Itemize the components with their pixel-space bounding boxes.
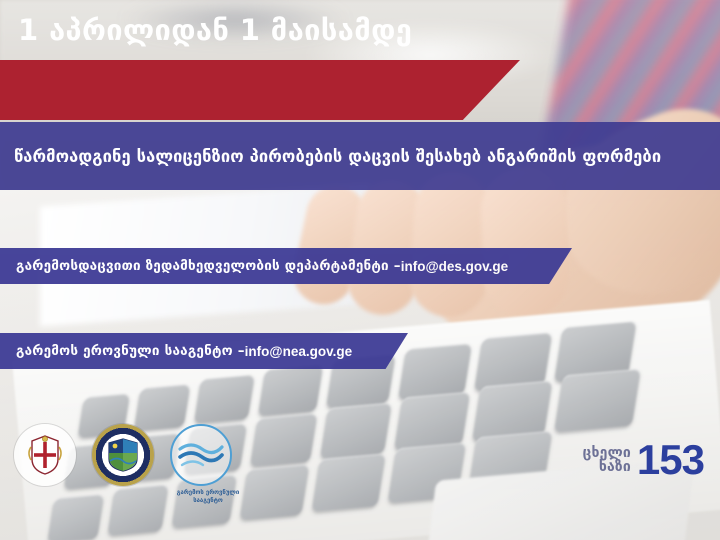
coat-of-arms-icon bbox=[14, 424, 76, 486]
contact-email-des[interactable]: info@des.gov.ge bbox=[401, 259, 508, 274]
contact-band-nea: გარემოს ეროვნული სააგენტო – info@nea.gov… bbox=[0, 333, 408, 369]
hotline-block: ცხელი ხაზი 153 bbox=[583, 440, 704, 480]
poster-canvas: წარმოადგინე სალიცენზიო პირობების დაცვის … bbox=[0, 0, 720, 540]
headline-red-text: 1 აპრილიდან 1 მაისამდე bbox=[18, 0, 412, 60]
logo-department bbox=[92, 424, 154, 486]
department-seal-icon bbox=[92, 424, 154, 486]
contact-org-nea: გარემოს ეროვნული სააგენტო – bbox=[0, 343, 245, 359]
logo-row: გარემოს ეროვნული სააგენტო bbox=[14, 424, 246, 505]
headline-red-band bbox=[0, 60, 520, 120]
nea-logo-caption: გარემოს ეროვნული სააგენტო bbox=[170, 489, 246, 505]
nea-water-wave-icon bbox=[170, 424, 232, 486]
hotline-label: ცხელი ხაზი bbox=[583, 446, 631, 475]
headline-blue-text: წარმოადგინე სალიცენზიო პირობების დაცვის … bbox=[14, 122, 661, 190]
logo-nea: გარემოს ეროვნული სააგენტო bbox=[170, 424, 246, 505]
contact-band-des: გარემოსდაცვითი ზედამხედველობის დეპარტამე… bbox=[0, 248, 572, 284]
logo-ministry bbox=[14, 424, 76, 486]
contact-org-des: გარემოსდაცვითი ზედამხედველობის დეპარტამე… bbox=[0, 258, 401, 274]
hotline-label-line2: ხაზი bbox=[599, 460, 631, 474]
contact-email-nea[interactable]: info@nea.gov.ge bbox=[245, 344, 352, 359]
hotline-number: 153 bbox=[637, 440, 704, 480]
hotline-label-line1: ცხელი bbox=[583, 446, 631, 460]
